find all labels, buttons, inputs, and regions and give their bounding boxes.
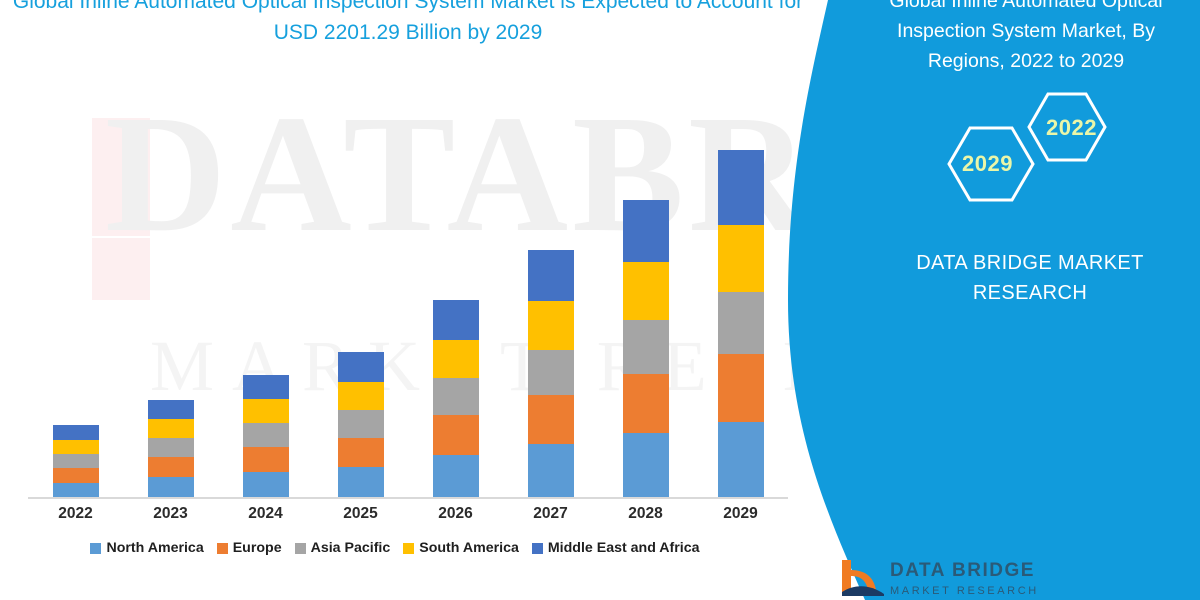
- legend-label: North America: [106, 540, 203, 556]
- bar-segment-europe-2029[interactable]: [718, 354, 764, 422]
- x-label-2025: 2025: [321, 505, 401, 523]
- x-label-2027: 2027: [511, 505, 591, 523]
- bar-group-2025[interactable]: [338, 352, 384, 497]
- legend-swatch-icon: [90, 543, 101, 554]
- bar-group-2029[interactable]: [718, 150, 764, 497]
- bar-segment-asia-pacific-2029[interactable]: [718, 292, 764, 354]
- x-label-2024: 2024: [226, 505, 306, 523]
- bar-segment-asia-pacific-2023[interactable]: [148, 438, 194, 457]
- bar-group-2026[interactable]: [433, 300, 479, 497]
- hexagon-icons: [900, 88, 1140, 228]
- bar-segment-south-america-2022[interactable]: [53, 440, 99, 454]
- hexagon-label-2029: 2029: [962, 151, 1013, 177]
- bar-segment-middle-east-and-africa-2022[interactable]: [53, 425, 99, 440]
- bar-segment-north-america-2029[interactable]: [718, 422, 764, 497]
- bottom-spacer: [0, 582, 790, 600]
- bar-segment-middle-east-and-africa-2023[interactable]: [148, 400, 194, 419]
- logo-line-2: MARKET RESEARCH: [890, 581, 1039, 600]
- right-panel-title: Global Inline Automated Optical Inspecti…: [866, 0, 1186, 76]
- bar-segment-middle-east-and-africa-2029[interactable]: [718, 150, 764, 225]
- legend-label: Europe: [233, 540, 282, 556]
- bar-segment-south-america-2026[interactable]: [433, 340, 479, 378]
- chart-area: Global Inline Automated Optical Inspecti…: [0, 0, 790, 600]
- bar-segment-europe-2025[interactable]: [338, 438, 384, 467]
- x-label-2029: 2029: [701, 505, 781, 523]
- bar-segment-south-america-2029[interactable]: [718, 225, 764, 292]
- bar-segment-asia-pacific-2028[interactable]: [623, 320, 669, 374]
- x-label-2026: 2026: [416, 505, 496, 523]
- bar-segment-europe-2026[interactable]: [433, 415, 479, 455]
- bar-segment-middle-east-and-africa-2026[interactable]: [433, 300, 479, 340]
- bar-segment-asia-pacific-2027[interactable]: [528, 350, 574, 395]
- bar-segment-middle-east-and-africa-2027[interactable]: [528, 250, 574, 301]
- legend-item-asia-pacific[interactable]: Asia Pacific: [295, 540, 391, 556]
- bar-segment-asia-pacific-2026[interactable]: [433, 378, 479, 415]
- x-label-2028: 2028: [606, 505, 686, 523]
- databridge-logo: DATA BRIDGE MARKET RESEARCH: [840, 556, 1100, 600]
- legend-item-europe[interactable]: Europe: [217, 540, 282, 556]
- bar-segment-europe-2022[interactable]: [53, 468, 99, 483]
- logo-line-1: DATA BRIDGE: [890, 560, 1035, 581]
- bridge-icon: [840, 556, 886, 596]
- hexagon-label-2022: 2022: [1046, 115, 1097, 141]
- bar-segment-north-america-2025[interactable]: [338, 467, 384, 497]
- bar-segment-asia-pacific-2022[interactable]: [53, 454, 99, 468]
- chart-legend: North AmericaEuropeAsia PacificSouth Ame…: [0, 540, 790, 556]
- bar-segment-north-america-2027[interactable]: [528, 444, 574, 497]
- bar-segment-south-america-2024[interactable]: [243, 399, 289, 423]
- legend-swatch-icon: [532, 543, 543, 554]
- bar-segment-south-america-2027[interactable]: [528, 301, 574, 350]
- chart-title: Global Inline Automated Optical Inspecti…: [8, 0, 808, 48]
- bar-segment-middle-east-and-africa-2024[interactable]: [243, 375, 289, 399]
- legend-label: Asia Pacific: [311, 540, 391, 556]
- bar-segment-middle-east-and-africa-2025[interactable]: [338, 352, 384, 382]
- legend-label: South America: [419, 540, 519, 556]
- bar-segment-south-america-2025[interactable]: [338, 382, 384, 410]
- right-panel-brand: DATA BRIDGE MARKET RESEARCH: [880, 248, 1180, 308]
- legend-swatch-icon: [403, 543, 414, 554]
- legend-item-north-america[interactable]: North America: [90, 540, 203, 556]
- bar-group-2023[interactable]: [148, 400, 194, 497]
- bar-segment-north-america-2022[interactable]: [53, 483, 99, 497]
- bar-segment-asia-pacific-2025[interactable]: [338, 410, 384, 438]
- x-label-2022: 2022: [36, 505, 116, 523]
- bar-segment-europe-2024[interactable]: [243, 447, 289, 472]
- bar-segment-north-america-2026[interactable]: [433, 455, 479, 497]
- bar-segment-europe-2027[interactable]: [528, 395, 574, 444]
- x-label-2023: 2023: [131, 505, 211, 523]
- legend-swatch-icon: [217, 543, 228, 554]
- infographic-root: DATABRIDGE MARKET RESEARCH Global Inline…: [0, 0, 1200, 600]
- legend-item-middle-east-and-africa[interactable]: Middle East and Africa: [532, 540, 700, 556]
- bar-segment-north-america-2028[interactable]: [623, 433, 669, 497]
- bar-segment-asia-pacific-2024[interactable]: [243, 423, 289, 447]
- bar-segment-middle-east-and-africa-2028[interactable]: [623, 200, 669, 262]
- bar-group-2022[interactable]: [53, 425, 99, 497]
- bar-segment-south-america-2023[interactable]: [148, 419, 194, 438]
- bar-segment-europe-2023[interactable]: [148, 457, 194, 477]
- stacked-bar-series: [28, 110, 788, 497]
- bar-segment-europe-2028[interactable]: [623, 374, 669, 433]
- legend-item-south-america[interactable]: South America: [403, 540, 519, 556]
- bar-group-2027[interactable]: [528, 250, 574, 497]
- legend-label: Middle East and Africa: [548, 540, 700, 556]
- bar-segment-north-america-2024[interactable]: [243, 472, 289, 497]
- bar-group-2024[interactable]: [243, 375, 289, 497]
- bar-segment-north-america-2023[interactable]: [148, 477, 194, 497]
- bar-segment-south-america-2028[interactable]: [623, 262, 669, 320]
- hexagon-group: 2022 2029: [900, 88, 1140, 228]
- legend-swatch-icon: [295, 543, 306, 554]
- bar-group-2028[interactable]: [623, 200, 669, 497]
- x-axis-line: [28, 497, 788, 499]
- logo-text: DATA BRIDGE MARKET RESEARCH: [890, 560, 1039, 600]
- x-axis-labels: 20222023202420252026202720282029: [28, 505, 788, 533]
